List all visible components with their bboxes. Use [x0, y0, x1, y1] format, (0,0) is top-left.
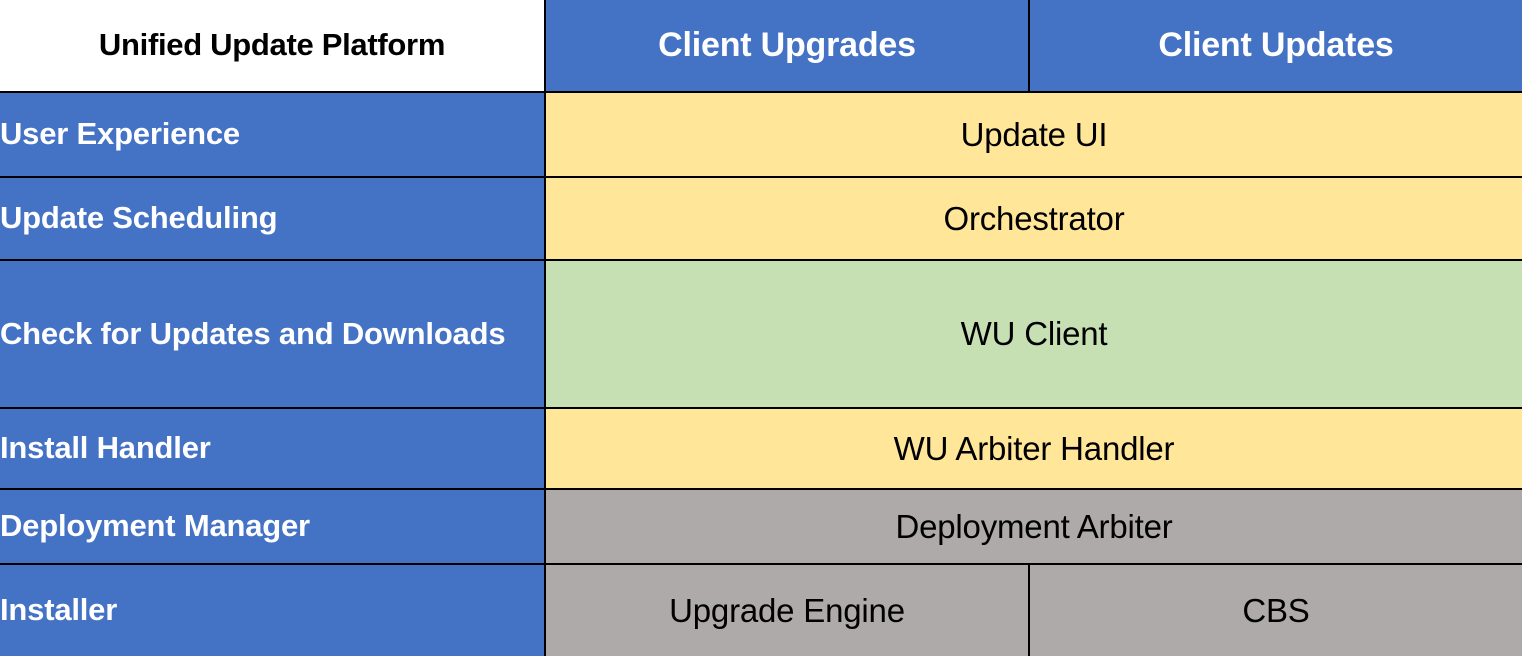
table-header-row: Unified Update Platform Client Upgrades … [0, 0, 1522, 92]
cell-orchestrator: Orchestrator [545, 177, 1522, 260]
table-row-user-experience: User Experience Update UI [0, 92, 1522, 177]
column-header-client-upgrades: Client Upgrades [545, 0, 1029, 92]
table-row-deployment-manager: Deployment Manager Deployment Arbiter [0, 489, 1522, 564]
unified-update-platform-table: Unified Update Platform Client Upgrades … [0, 0, 1522, 656]
row-label-installer: Installer [0, 564, 545, 656]
cell-cbs: CBS [1029, 564, 1522, 656]
cell-update-ui: Update UI [545, 92, 1522, 177]
row-label-deployment-manager: Deployment Manager [0, 489, 545, 564]
cell-wu-arbiter-handler: WU Arbiter Handler [545, 408, 1522, 489]
row-label-check-for-updates-and-downloads: Check for Updates and Downloads [0, 260, 545, 408]
cell-wu-client: WU Client [545, 260, 1522, 408]
cell-deployment-arbiter: Deployment Arbiter [545, 489, 1522, 564]
row-label-user-experience: User Experience [0, 92, 545, 177]
row-label-update-scheduling: Update Scheduling [0, 177, 545, 260]
table-row-check-for-updates-and-downloads: Check for Updates and Downloads WU Clien… [0, 260, 1522, 408]
cell-upgrade-engine: Upgrade Engine [545, 564, 1029, 656]
table-row-install-handler: Install Handler WU Arbiter Handler [0, 408, 1522, 489]
column-header-client-updates: Client Updates [1029, 0, 1522, 92]
table-row-installer: Installer Upgrade Engine CBS [0, 564, 1522, 656]
corner-title-cell: Unified Update Platform [0, 0, 545, 92]
table-row-update-scheduling: Update Scheduling Orchestrator [0, 177, 1522, 260]
row-label-install-handler: Install Handler [0, 408, 545, 489]
